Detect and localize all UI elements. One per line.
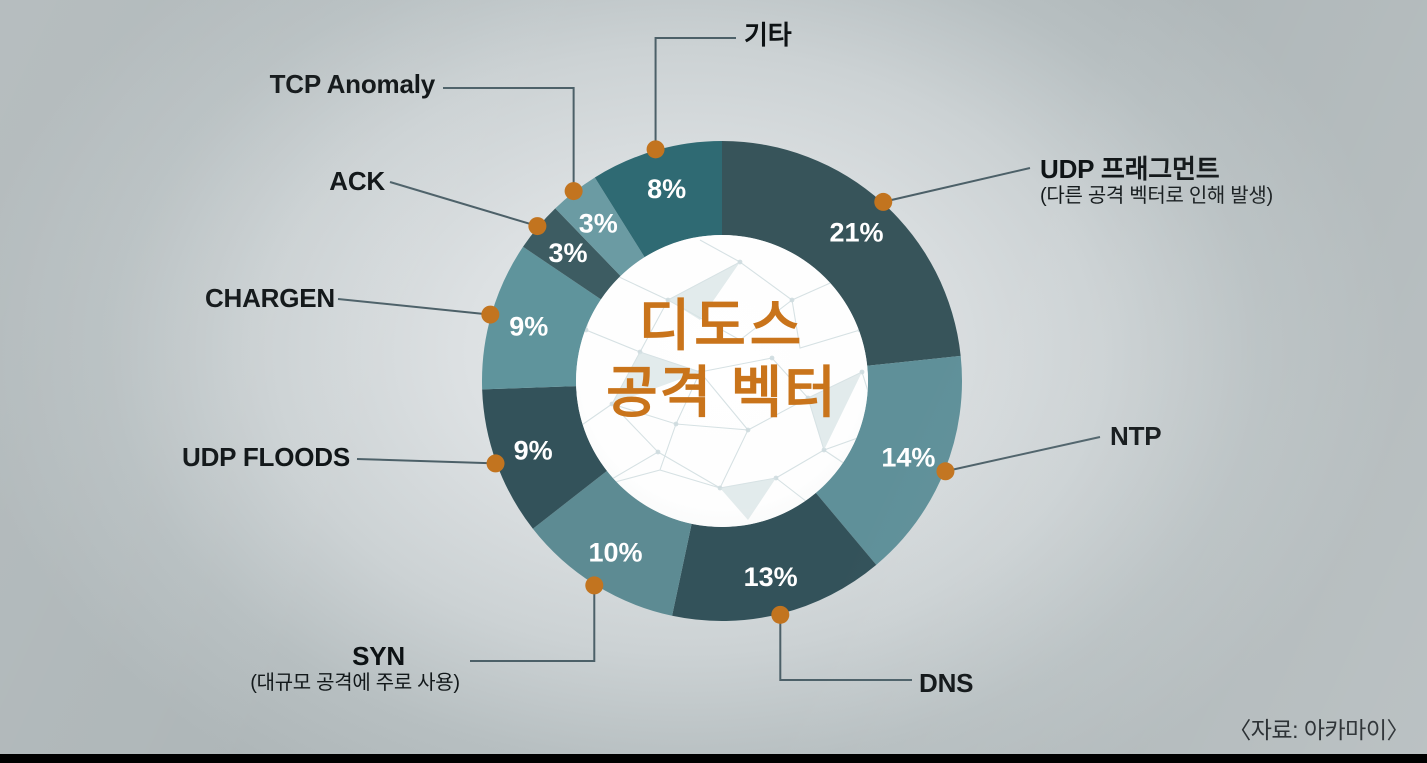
callout-label-dns-text: DNS bbox=[919, 668, 973, 698]
callout-label-tcp-anomaly[interactable]: TCP Anomaly bbox=[45, 71, 435, 98]
leader-line bbox=[470, 585, 594, 661]
callout-sublabel-udp-fragment: (다른 공격 벡터로 인해 발생) bbox=[1040, 186, 1273, 207]
center-title-line2: 공격 벡터 bbox=[606, 361, 838, 424]
leader-dot[interactable] bbox=[481, 306, 499, 324]
callout-label-ntp[interactable]: NTP bbox=[1110, 423, 1161, 450]
callout-label-udp-fragment-text: UDP 프래그먼트 bbox=[1040, 154, 1219, 184]
leader-dot[interactable] bbox=[936, 462, 954, 480]
leader-line bbox=[945, 437, 1100, 471]
callout-label-ntp-text: NTP bbox=[1110, 421, 1161, 451]
leader-dot[interactable] bbox=[487, 454, 505, 472]
leader-line bbox=[338, 299, 490, 315]
slice-percent-label: 21% bbox=[829, 218, 883, 248]
callout-label-ack-text: ACK bbox=[329, 166, 385, 196]
callout-sublabel-syn: (대규모 공격에 주로 사용) bbox=[55, 673, 655, 694]
leader-line bbox=[443, 88, 574, 191]
slice-percent-label: 9% bbox=[509, 312, 548, 342]
callout-label-syn-text: SYN bbox=[352, 641, 405, 671]
slice-percent-label: 10% bbox=[588, 537, 642, 567]
callout-label-udp-floods[interactable]: UDP FLOODS bbox=[0, 444, 350, 471]
slice-percent-label: 3% bbox=[549, 238, 588, 268]
slice-percent-label: 8% bbox=[647, 174, 686, 204]
leader-line bbox=[780, 615, 912, 680]
leader-dot[interactable] bbox=[585, 576, 603, 594]
callout-label-udp-fragment[interactable]: UDP 프래그먼트 (다른 공격 벡터로 인해 발생) bbox=[1040, 156, 1273, 207]
callout-label-dns[interactable]: DNS bbox=[919, 670, 973, 697]
source-note: 〈자료: 아카마이〉 bbox=[1228, 711, 1409, 745]
leader-line bbox=[357, 459, 496, 463]
leader-line bbox=[883, 168, 1030, 202]
leader-dot[interactable] bbox=[647, 140, 665, 158]
callout-label-other[interactable]: 기타 bbox=[744, 22, 791, 49]
leader-dot[interactable] bbox=[874, 193, 892, 211]
leader-dot[interactable] bbox=[771, 606, 789, 624]
leader-dot[interactable] bbox=[565, 182, 583, 200]
bottom-bar bbox=[0, 754, 1427, 763]
slice-percent-label: 13% bbox=[744, 562, 798, 592]
callout-label-tcp-anomaly-text: TCP Anomaly bbox=[270, 69, 435, 99]
slice-percent-label: 3% bbox=[579, 209, 618, 239]
callout-label-other-text: 기타 bbox=[744, 20, 791, 50]
leader-line bbox=[390, 182, 537, 226]
slice-percent-label: 14% bbox=[881, 442, 935, 472]
callout-label-ack[interactable]: ACK bbox=[115, 168, 385, 195]
leader-line bbox=[656, 38, 736, 149]
center-title-line1: 디도스 bbox=[639, 294, 806, 357]
slice-percent-label: 9% bbox=[514, 436, 553, 466]
callout-label-chargen-text: CHARGEN bbox=[205, 283, 335, 313]
infographic-canvas: 21%14%13%10%9%9%3%3%8% 디도스 공격 벡터 UDP 프래그… bbox=[0, 0, 1427, 763]
leader-dot[interactable] bbox=[528, 217, 546, 235]
callout-label-udp-floods-text: UDP FLOODS bbox=[182, 442, 350, 472]
callout-label-syn[interactable]: SYN (대규모 공격에 주로 사용) bbox=[60, 643, 405, 694]
callout-label-chargen[interactable]: CHARGEN bbox=[0, 285, 335, 312]
